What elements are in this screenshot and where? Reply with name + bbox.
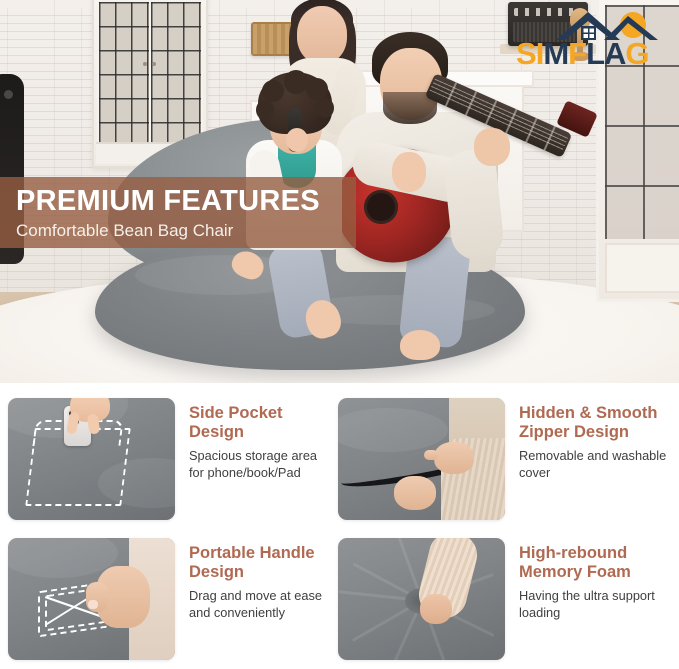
feature-description: Having the ultra support loading <box>519 588 668 622</box>
feature-title-line2: Memory Foam <box>519 563 631 581</box>
cabinet-door-right <box>149 0 203 144</box>
feature-title: Hidden & Smooth Zipper Design <box>519 404 668 443</box>
glass-pane <box>99 2 149 142</box>
man-strumming-hand <box>392 152 426 192</box>
fabric-crease <box>338 408 448 452</box>
hair-curl <box>284 70 308 94</box>
hand-lower <box>394 476 436 510</box>
feature-title: Side Pocket Design <box>189 404 338 443</box>
feature-title-line1: Portable Handle <box>189 544 315 562</box>
feature-desc-line1: Removable and washable <box>519 448 666 463</box>
brand-wordmark: SIMFLAG <box>516 36 672 72</box>
logo-letter: G <box>625 36 648 72</box>
feature-title-line2: Design <box>189 563 244 581</box>
boy-hand <box>286 128 308 152</box>
finger <box>424 450 438 460</box>
feature-title-line1: Side Pocket <box>189 404 283 422</box>
feature-image-portable-handle <box>8 538 175 660</box>
hair-curl <box>316 98 334 118</box>
feature-desc-line1: Spacious storage area <box>189 448 317 463</box>
logo-letter: F <box>568 36 586 72</box>
banner-title: PREMIUM FEATURES <box>16 187 356 216</box>
feature-text-hidden-zipper: Hidden & Smooth Zipper Design Removable … <box>505 398 668 528</box>
feature-desc-line2: loading <box>519 605 560 620</box>
man-fretting-hand <box>474 128 510 166</box>
feature-desc-line2: cover <box>519 465 550 480</box>
cabinet-knob <box>152 62 156 66</box>
girl-head <box>297 6 347 64</box>
feature-title-line1: High-rebound <box>519 544 627 562</box>
logo-letter: I <box>536 36 544 72</box>
fabric-crease <box>8 538 118 578</box>
feature-desc-line2: for phone/book/Pad <box>189 465 301 480</box>
hair-curl <box>306 78 328 100</box>
product-feature-page: PREMIUM FEATURES Comfortable Bean Bag Ch… <box>0 0 679 669</box>
feature-text-side-pocket: Side Pocket Design Spacious storage area… <box>175 398 338 528</box>
logo-letter: S <box>516 36 536 72</box>
feature-image-side-pocket <box>8 398 175 520</box>
feature-desc-line1: Drag and move at ease <box>189 588 322 603</box>
feature-image-memory-foam <box>338 538 505 660</box>
brand-logo: SIMFLAG <box>516 6 672 78</box>
fingernail <box>88 600 98 609</box>
feature-title-line2: Design <box>189 423 244 441</box>
feature-portable-handle: Portable Handle Design Drag and move at … <box>8 538 338 668</box>
feature-side-pocket: Side Pocket Design Spacious storage area… <box>8 398 338 528</box>
feature-title-line1: Hidden & Smooth <box>519 404 657 422</box>
fist-pressing <box>420 594 452 624</box>
banner-subtitle: Comfortable Bean Bag Chair <box>16 222 356 239</box>
feature-description: Spacious storage area for phone/book/Pad <box>189 448 338 482</box>
feature-grid: Side Pocket Design Spacious storage area… <box>0 390 679 669</box>
bare-foot <box>400 330 440 360</box>
glass-pane <box>151 2 201 142</box>
feature-title: High-rebound Memory Foam <box>519 544 668 583</box>
cabinet-knob <box>143 62 147 66</box>
feature-title-line2: Zipper Design <box>519 423 629 441</box>
feature-description: Removable and washable cover <box>519 448 668 482</box>
cabinet-drawer <box>605 243 679 293</box>
feature-image-hidden-zipper <box>338 398 505 520</box>
hand-upper <box>434 442 474 474</box>
feature-text-memory-foam: High-rebound Memory Foam Having the ultr… <box>505 538 668 668</box>
logo-letter: L <box>586 36 604 72</box>
feature-desc-line1: Having the ultra support <box>519 588 655 603</box>
chair-knob <box>4 90 13 99</box>
feature-memory-foam: High-rebound Memory Foam Having the ultr… <box>338 538 668 668</box>
hero-image: PREMIUM FEATURES Comfortable Bean Bag Ch… <box>0 0 679 383</box>
feature-title: Portable Handle Design <box>189 544 338 583</box>
feature-hidden-zipper: Hidden & Smooth Zipper Design Removable … <box>338 398 668 528</box>
feature-desc-line2: and conveniently <box>189 605 285 620</box>
logo-letter: A <box>604 36 625 72</box>
feature-description: Drag and move at ease and conveniently <box>189 588 338 622</box>
hair-curl <box>256 100 274 120</box>
feature-text-portable-handle: Portable Handle Design Drag and move at … <box>175 538 338 668</box>
cabinet-door-left <box>97 0 151 144</box>
premium-features-banner: PREMIUM FEATURES Comfortable Bean Bag Ch… <box>0 177 356 248</box>
logo-letter: M <box>543 36 568 72</box>
hair-curl <box>262 80 284 102</box>
